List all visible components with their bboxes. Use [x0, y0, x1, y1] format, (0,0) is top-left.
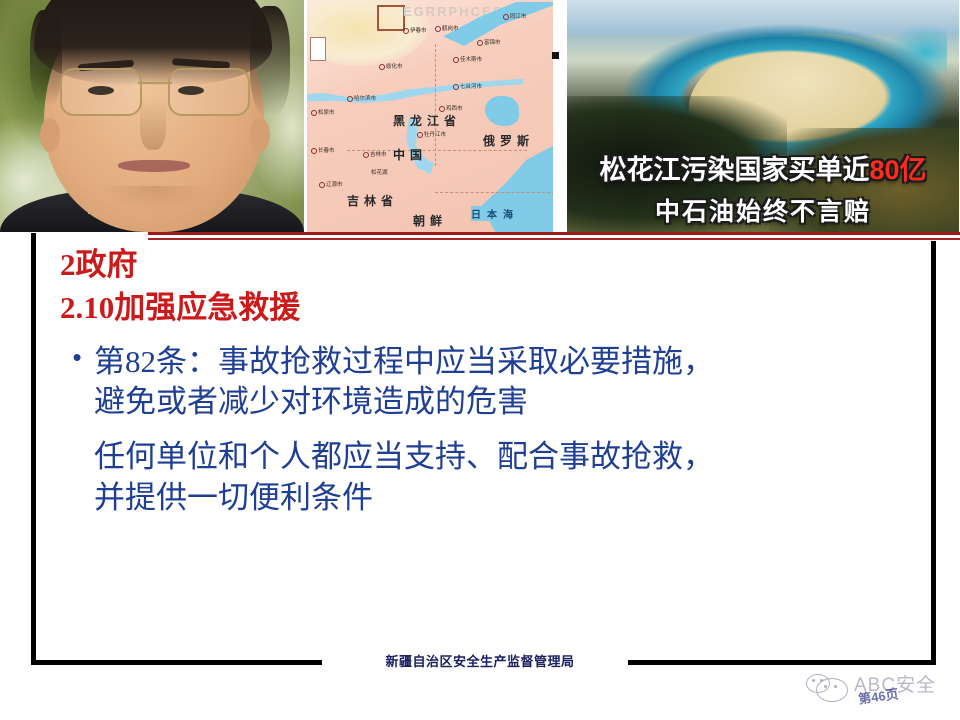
map-country-korea: 朝鲜 [413, 212, 447, 229]
map-national-border [435, 192, 553, 193]
portrait-chin [100, 186, 210, 212]
map-legend-box [310, 37, 326, 61]
section-heading: 2政府 [60, 244, 920, 287]
wechat-dot [824, 685, 827, 688]
portrait-hair-side-right [250, 6, 290, 116]
map-city-label: 鸡西市 [439, 104, 463, 112]
wechat-icon [806, 674, 850, 700]
map-province-heilongjiang: 黑龙江省 [393, 112, 461, 129]
map-city-label: 哈尔滨市 [347, 94, 376, 102]
songhua-river-photo: 松花江污染国家买单近80亿 中石油始终不言赔 [567, 0, 959, 232]
portrait-ear-right [250, 118, 270, 152]
map-province-border-1 [435, 44, 436, 166]
subsection-heading: 2.10加强应急救援 [60, 287, 920, 330]
decorative-square [552, 52, 559, 59]
bullet-text-block: 第82条：事故抢救过程中应当采取必要措施， 避免或者减少对环境造成的危害 [94, 342, 714, 424]
map-city-label: 同江市 [503, 12, 527, 20]
map-sea-japan: 日本海 [471, 206, 519, 221]
map-city-label: 吉林市 [363, 150, 387, 158]
bullet-line: 避免或者减少对环境造成的危害 [94, 382, 714, 423]
map-water-lake-xingkai [485, 96, 519, 126]
red-divider-line [148, 232, 960, 235]
glasses-lens-right [168, 68, 250, 116]
photo-headline-main-text: 松花江污染国家买单近 [599, 155, 869, 185]
map-city-label: 富锦市 [477, 38, 501, 46]
red-divider-line-secondary [148, 238, 960, 240]
map-city-label: 牡丹江市 [417, 130, 446, 138]
map-locator-box [377, 5, 405, 31]
wechat-dot [834, 685, 837, 688]
bullet-line: 任何单位和个人都应当支持、配合事故抢救， [94, 437, 920, 478]
map-city-label: 长春市 [311, 146, 335, 154]
portrait-photo [0, 0, 304, 232]
bullet-item-1: • 第82条：事故抢救过程中应当采取必要措施， 避免或者减少对环境造成的危害 [60, 342, 920, 424]
wechat-bubble-small [806, 674, 830, 693]
map-city-label: 七台河市 [453, 82, 482, 90]
portrait-nose [140, 98, 166, 150]
map-country-russia: 俄罗斯 [483, 132, 534, 149]
glasses-bridge [138, 82, 172, 84]
map-lake-label: 松花湖 [371, 168, 388, 176]
map-province-jilin: 吉林省 [347, 192, 398, 209]
glasses-lens-left [60, 68, 142, 116]
map-image: EGRRPHCEGG 伊春市 鹤岗市 佳木斯市 七台河市 绥化市 哈尔滨市 鸡西… [307, 0, 553, 232]
presentation-slide: EGRRPHCEGG 伊春市 鹤岗市 佳木斯市 七台河市 绥化市 哈尔滨市 鸡西… [0, 0, 960, 720]
wechat-dot [812, 679, 815, 682]
frame-left-bar [31, 233, 36, 665]
slide-body: 2政府 2.10加强应急救援 • 第82条：事故抢救过程中应当采取必要措施， 避… [60, 244, 920, 519]
photo-headline-sub: 中石油始终不言赔 [567, 192, 959, 228]
portrait-hair-side-left [30, 10, 62, 106]
map-city-label: 伊春市 [403, 26, 427, 34]
bullet-item-2: 任何单位和个人都应当支持、配合事故抢救， 并提供一切便利条件 [60, 437, 920, 519]
map-city-label: 绥化市 [379, 62, 403, 70]
portrait-ear-left [40, 118, 60, 152]
map-city-label: 松原市 [311, 108, 335, 116]
bullet-line: 第82条：事故抢救过程中应当采取必要措施， [94, 342, 714, 383]
bullet-line: 并提供一切便利条件 [94, 478, 920, 519]
map-city-label: 佳木斯市 [453, 55, 482, 63]
photo-headline-main: 松花江污染国家买单近80亿 [567, 148, 959, 187]
map-country-china: 中国 [393, 146, 427, 163]
bullet-marker: • [60, 342, 94, 424]
frame-right-bar [931, 241, 936, 665]
map-city-label: 鹤岗市 [435, 24, 459, 32]
portrait-mouth [118, 160, 190, 172]
wechat-dot [820, 679, 823, 682]
photo-headline-amount: 80亿 [869, 155, 926, 185]
map-city-label: 辽源市 [319, 180, 343, 188]
